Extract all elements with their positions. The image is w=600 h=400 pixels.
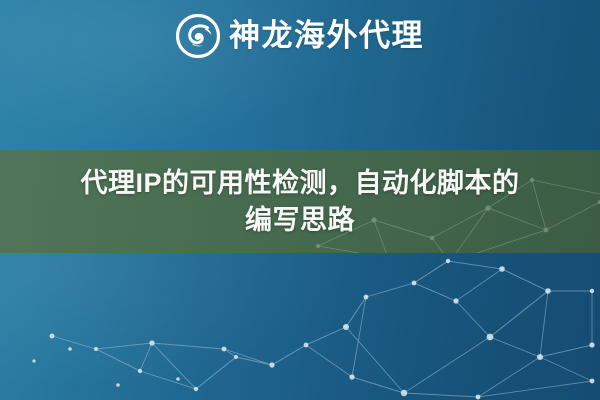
title-band: 代理IP的可用性检测，自动化脚本的 编写思路 (0, 150, 600, 253)
brand-logo-lockup[interactable]: 神龙海外代理 (0, 11, 600, 61)
network-constellation-pattern (0, 253, 600, 400)
promo-banner: 神龙海外代理 (0, 0, 600, 400)
footer-vignette-overlay (0, 253, 600, 400)
brand-name-text: 神龙海外代理 (229, 14, 424, 58)
shenlong-dragon-swirl-logo-icon (176, 14, 220, 58)
header-band: 神龙海外代理 (0, 0, 600, 150)
footer-band (0, 253, 600, 400)
page-title: 代理IP的可用性检测，自动化脚本的 编写思路 (0, 150, 600, 253)
page-title-line-2: 编写思路 (245, 202, 355, 239)
page-title-line-1: 代理IP的可用性检测，自动化脚本的 (80, 165, 519, 202)
